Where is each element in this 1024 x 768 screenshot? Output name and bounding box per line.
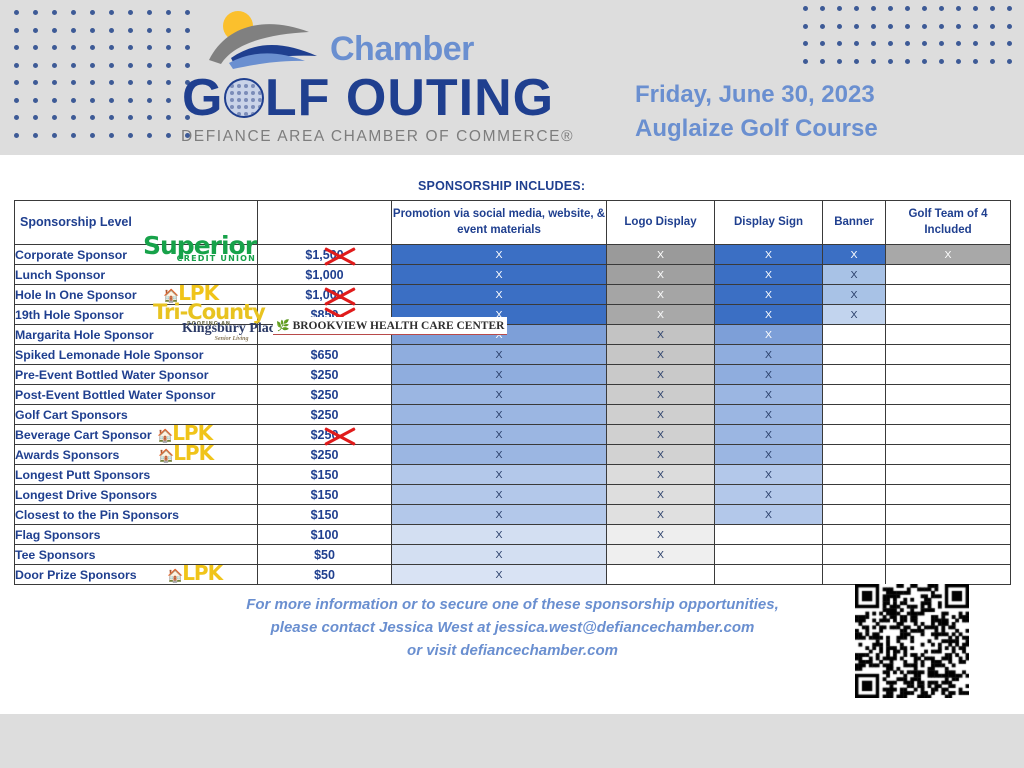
col-promotion: Promotion via social media, website, & e… [392,201,607,245]
decorative-dot [33,10,38,15]
sponsorship-level-cell: Lunch Sponsor [15,265,258,285]
decorative-dot [939,59,944,64]
decorative-dot [90,63,95,68]
banner-cell [823,545,886,565]
display-sign-cell: X [715,265,823,285]
promotion-cell: X [392,565,607,585]
decorative-dot [33,133,38,138]
decorative-dot [52,115,57,120]
sponsorship-level-label: Spiked Lemonade Hole Sponsor [15,348,204,362]
decorative-dot [956,59,961,64]
decorative-dot [922,6,927,11]
footer-line-2: please contact Jessica West at jessica.w… [140,617,885,640]
sponsorship-table-wrap: Sponsorship Level Promotion via social m… [14,200,1010,585]
decorative-dot [803,41,808,46]
sponsorship-level-label: 19th Hole Sponsor [15,308,124,322]
decorative-dot [109,63,114,68]
lpk-logo: 🏠LPK [157,421,212,445]
decorative-dot [90,10,95,15]
table-row: Pre-Event Bottled Water Sponsor$250XXX [15,365,1011,385]
poster-page: Chamber GOLF OUTING DEFIANCE AREA CHAMBE… [0,0,1024,768]
decorative-dot [990,59,995,64]
price-value: $250 [311,388,339,402]
sponsorship-level-cell: Flag Sponsors [15,525,258,545]
banner-cell: X [823,305,886,325]
decorative-dot [128,45,133,50]
display-sign-cell [715,525,823,545]
sponsorship-level-cell: Longest Drive Sponsors [15,485,258,505]
sponsorship-level-label: Margarita Hole Sponsor [15,328,154,342]
golf-team-cell [886,285,1011,305]
decorative-dot [90,45,95,50]
display-sign-cell: X [715,505,823,525]
sponsorship-level-label: Flag Sponsors [15,528,100,542]
golf-team-cell [886,405,1011,425]
decorative-dot [128,133,133,138]
sponsorship-level-label: Longest Putt Sponsors [15,468,150,482]
decorative-dot [14,63,19,68]
golf-team-cell [886,565,1011,585]
sponsorship-level-label: Corporate Sponsor [15,248,127,262]
col-banner: Banner [823,201,886,245]
table-row: Golf Cart Sponsors$250XXX [15,405,1011,425]
logo-display-cell: X [607,505,715,525]
event-date: Friday, June 30, 2023 [635,78,878,112]
decorative-dot [837,6,842,11]
decorative-dot [52,28,57,33]
sponsorship-level-cell: Beverage Cart Sponsor🏠LPK [15,425,258,445]
decorative-dot [854,59,859,64]
footer-line-1: For more information or to secure one of… [140,594,885,617]
promotion-cell: X [392,385,607,405]
logo-display-cell [607,565,715,585]
sponsorship-level-cell: Pre-Event Bottled Water Sponsor [15,365,258,385]
display-sign-cell: X [715,405,823,425]
decorative-dot [166,98,171,103]
decorative-dot [888,59,893,64]
golf-ball-icon [224,78,264,118]
decorative-dot [71,63,76,68]
decorative-dot [185,28,190,33]
sponsorship-level-cell: Margarita Hole SponsorKingsbury PlaceSen… [15,325,258,345]
table-row: Margarita Hole SponsorKingsbury PlaceSen… [15,325,1011,345]
banner-cell [823,325,886,345]
display-sign-cell: X [715,305,823,325]
decorative-dot [90,80,95,85]
table-row: Corporate SponsorSuperiorCREDIT UNION$1,… [15,245,1011,265]
table-row: Awards Sponsors🏠LPK$250XXX [15,445,1011,465]
banner-cell [823,385,886,405]
decorative-dot [939,6,944,11]
decorative-dot [109,10,114,15]
decorative-dot [52,133,57,138]
decorative-dot [166,115,171,120]
logo-display-cell: X [607,485,715,505]
sponsorship-level-cell: Hole In One Sponsor🏠LPK [15,285,258,305]
price-cell: $50 [258,545,392,565]
decorative-dot [33,98,38,103]
golf-team-cell [886,345,1011,365]
decorative-dot [166,28,171,33]
promotion-cell: X [392,545,607,565]
display-sign-cell: X [715,245,823,265]
decorative-dot [854,6,859,11]
decorative-dot [109,80,114,85]
sponsorship-level-cell: Corporate SponsorSuperiorCREDIT UNION [15,245,258,265]
decorative-dot [871,6,876,11]
table-row: Flag Sponsors$100XX [15,525,1011,545]
decorative-dot [147,98,152,103]
decorative-dot [956,6,961,11]
col-golf-team: Golf Team of 4 Included [886,201,1011,245]
table-row: Longest Putt Sponsors$150XXX [15,465,1011,485]
banner-cell: X [823,285,886,305]
promotion-cell: X [392,345,607,365]
footer-line-3: or visit defiancechamber.com [140,640,885,663]
table-header: Sponsorship Level Promotion via social m… [15,201,1011,245]
price-cell: $250 [258,405,392,425]
decorative-dot [128,80,133,85]
decorative-dot [956,41,961,46]
sponsorship-level-cell: Awards Sponsors🏠LPK [15,445,258,465]
decorative-dot [820,59,825,64]
logo-display-cell: X [607,265,715,285]
decorative-dot [905,24,910,29]
sponsorship-level-label: Lunch Sponsor [15,268,105,282]
decorative-dot [14,80,19,85]
banner-cell [823,485,886,505]
table-row: Hole In One Sponsor🏠LPK$1,000XXXX [15,285,1011,305]
decorative-dot [128,10,133,15]
decorative-dot [52,80,57,85]
sponsorship-level-label: Closest to the Pin Sponsors [15,508,179,522]
promotion-cell: X [392,405,607,425]
sponsorship-includes-label: SPONSORSHIP INCLUDES: [418,179,585,193]
decorative-dot [185,45,190,50]
sponsorship-level-label: Pre-Event Bottled Water Sponsor [15,368,209,382]
banner-cell [823,345,886,365]
sponsorship-level-label: Post-Event Bottled Water Sponsor [15,388,215,402]
decorative-dot [71,10,76,15]
banner-cell [823,505,886,525]
decorative-dot [90,28,95,33]
decorative-dot [820,6,825,11]
decorative-dot [33,80,38,85]
display-sign-cell: X [715,365,823,385]
table-row: 19th Hole SponsorTri-CountyROOFING AN$85… [15,305,1011,325]
logo-display-cell: X [607,545,715,565]
sun-waves-logo-icon [205,8,325,70]
bottom-band [0,714,1024,768]
price-cell: $250 [258,425,392,445]
price-cell: $1,500 [258,245,392,265]
decorative-dot [820,24,825,29]
header-band: Chamber GOLF OUTING DEFIANCE AREA CHAMBE… [0,0,1024,155]
table-row: Beverage Cart Sponsor🏠LPK$250XXX [15,425,1011,445]
decorative-dot [973,24,978,29]
decorative-dot [14,133,19,138]
promotion-cell: X [392,525,607,545]
decorative-dot [147,45,152,50]
decorative-dot [185,63,190,68]
decorative-dot [147,80,152,85]
decorative-dot [147,63,152,68]
golf-team-cell [886,305,1011,325]
banner-cell [823,465,886,485]
decorative-dot [52,98,57,103]
decorative-dot [109,28,114,33]
decorative-dot [128,115,133,120]
decorative-dot [905,41,910,46]
logo-display-cell: X [607,405,715,425]
decorative-dot [990,41,995,46]
contact-footer: For more information or to secure one of… [140,594,885,662]
table-row: Closest to the Pin Sponsors$150XXX [15,505,1011,525]
sponsorship-level-cell: Door Prize Sponsors🏠LPK [15,565,258,585]
col-display-sign: Display Sign [715,201,823,245]
banner-cell [823,405,886,425]
table-row: Post-Event Bottled Water Sponsor$250XXX [15,385,1011,405]
price-cell: $150 [258,485,392,505]
logo-display-cell: X [607,305,715,325]
decorative-dot [185,10,190,15]
promotion-cell: X [392,365,607,385]
decorative-dot [52,63,57,68]
decorative-dot [922,59,927,64]
decorative-dot [803,59,808,64]
decorative-dot [166,45,171,50]
col-logo-display: Logo Display [607,201,715,245]
decorative-dot [939,24,944,29]
price-value: $100 [311,528,339,542]
decorative-dot [14,28,19,33]
decorative-dot [973,59,978,64]
logo-display-cell: X [607,445,715,465]
decorative-dot [166,10,171,15]
decorative-dot [90,98,95,103]
decorative-dot [837,24,842,29]
decorative-dot [109,45,114,50]
decorative-dot [956,24,961,29]
decorative-dot [147,10,152,15]
price-value: $150 [311,508,339,522]
promotion-cell: X [392,425,607,445]
decorative-dot [803,24,808,29]
decorative-dot [33,45,38,50]
price-cell: $250 [258,365,392,385]
display-sign-cell: X [715,465,823,485]
golf-team-cell [886,525,1011,545]
decorative-dot [854,41,859,46]
sponsorship-level-label: Golf Cart Sponsors [15,408,128,422]
decorative-dot [128,28,133,33]
decorative-dot [871,24,876,29]
decorative-dot [888,41,893,46]
table-row: Tee Sponsors$50XX [15,545,1011,565]
banner-cell: X [823,265,886,285]
display-sign-cell: X [715,285,823,305]
decorative-dot [888,24,893,29]
logo-display-cell: X [607,345,715,365]
decorative-dot [52,45,57,50]
golf-team-cell: X [886,245,1011,265]
banner-cell [823,525,886,545]
decorative-dot [905,6,910,11]
golf-team-cell [886,445,1011,465]
decorative-dot [33,63,38,68]
golf-team-cell [886,365,1011,385]
price-cell: $150 [258,465,392,485]
price-cell: $650 [258,345,392,365]
decorative-dot [128,98,133,103]
decorative-dot [1007,41,1012,46]
price-cell: $1,000 [258,285,392,305]
sponsorship-level-cell: Golf Cart Sponsors [15,405,258,425]
logo-display-cell: X [607,285,715,305]
decorative-dot [147,28,152,33]
decorative-dot [888,6,893,11]
price-cell: $250 [258,445,392,465]
golf-team-cell [886,385,1011,405]
price-value: $250 [311,408,339,422]
col-price [258,201,392,245]
logo-display-cell: X [607,465,715,485]
banner-cell [823,445,886,465]
promotion-cell: X [392,465,607,485]
decorative-dot [71,98,76,103]
golf-team-cell [886,425,1011,445]
price-value: $250 [311,368,339,382]
price-value: $150 [311,488,339,502]
decorative-dot [990,24,995,29]
banner-cell [823,565,886,585]
promotion-cell: X [392,245,607,265]
price-value: $250 [311,448,339,462]
organization-tagline: DEFIANCE AREA CHAMBER OF COMMERCE® [181,128,574,146]
sponsorship-level-cell: Longest Putt Sponsors [15,465,258,485]
qr-code-icon[interactable] [855,584,969,698]
price-cell: $50 [258,565,392,585]
lpk-logo: 🏠LPK [163,281,218,305]
display-sign-cell: X [715,325,823,345]
decorative-dot [922,24,927,29]
price-value: $850 [311,308,339,322]
table-body: Corporate SponsorSuperiorCREDIT UNION$1,… [15,245,1011,585]
price-cell: $100 [258,525,392,545]
golf-team-cell [886,465,1011,485]
display-sign-cell: X [715,425,823,445]
decorative-dot [90,133,95,138]
table-row: Lunch Sponsor$1,000XXXX [15,265,1011,285]
sponsorship-level-cell: Post-Event Bottled Water Sponsor [15,385,258,405]
decorative-dot [71,133,76,138]
golf-team-cell [886,325,1011,345]
promotion-cell: X [392,485,607,505]
decorative-dot [14,98,19,103]
decorative-dot [803,6,808,11]
decorative-dot [128,63,133,68]
price-value: $50 [314,568,335,582]
decorative-dot [871,59,876,64]
table-row: Longest Drive Sponsors$150XXX [15,485,1011,505]
display-sign-cell: X [715,345,823,365]
decorative-dot [33,115,38,120]
decorative-dot [71,115,76,120]
tri-county-logo: Tri-CountyROOFING AN [153,300,265,327]
decorative-dot [14,45,19,50]
decorative-dot [973,41,978,46]
decorative-dot [71,80,76,85]
decorative-dot [922,41,927,46]
decorative-dot [71,28,76,33]
golf-team-cell [886,485,1011,505]
promotion-cell: X [392,265,607,285]
decorative-dot [90,115,95,120]
logo-display-cell: X [607,245,715,265]
decorative-dot [147,115,152,120]
sponsorship-level-cell: 19th Hole SponsorTri-CountyROOFING AN [15,305,258,325]
sponsorship-table: Sponsorship Level Promotion via social m… [14,200,1011,585]
promotion-cell: X [392,305,607,325]
price-cell: $850 [258,305,392,325]
promotion-cell: X [392,505,607,525]
sponsorship-level-label: Hole In One Sponsor [15,288,137,302]
price-value: $650 [311,348,339,362]
price-value: $1,000 [305,268,343,282]
decorative-dot [109,133,114,138]
display-sign-cell: X [715,445,823,465]
logo-display-cell: X [607,385,715,405]
logo-display-cell: X [607,425,715,445]
decorative-dot [52,10,57,15]
decorative-dot [166,63,171,68]
promotion-cell: X [392,285,607,305]
sponsorship-level-label: Awards Sponsors [15,448,119,462]
price-cell [258,325,392,345]
price-cell: $1,000 [258,265,392,285]
decorative-dot [837,59,842,64]
lpk-logo: 🏠LPK [158,441,213,465]
price-value: $50 [314,548,335,562]
decorative-dot [939,41,944,46]
logo-display-cell: X [607,325,715,345]
decorative-dot [109,115,114,120]
event-venue: Auglaize Golf Course [635,112,878,146]
table-row: Spiked Lemonade Hole Sponsor$650XXX [15,345,1011,365]
decorative-dot [905,59,910,64]
promotion-cell: X [392,325,607,345]
banner-cell: X [823,245,886,265]
logo-display-cell: X [607,525,715,545]
promotion-cell: X [392,445,607,465]
price-value: $1,000 [305,288,343,302]
decorative-dot [14,10,19,15]
price-value: $150 [311,468,339,482]
decorative-dot [147,133,152,138]
decorative-dot [1007,59,1012,64]
golf-team-cell [886,545,1011,565]
golf-team-cell [886,265,1011,285]
table-row: Door Prize Sponsors🏠LPK$50X [15,565,1011,585]
display-sign-cell: X [715,385,823,405]
decorative-dot [33,28,38,33]
decorative-dot [166,80,171,85]
display-sign-cell [715,565,823,585]
decorative-dot [1007,24,1012,29]
logo-display-cell: X [607,365,715,385]
sponsorship-level-label: Door Prize Sponsors [15,568,137,582]
banner-cell [823,425,886,445]
